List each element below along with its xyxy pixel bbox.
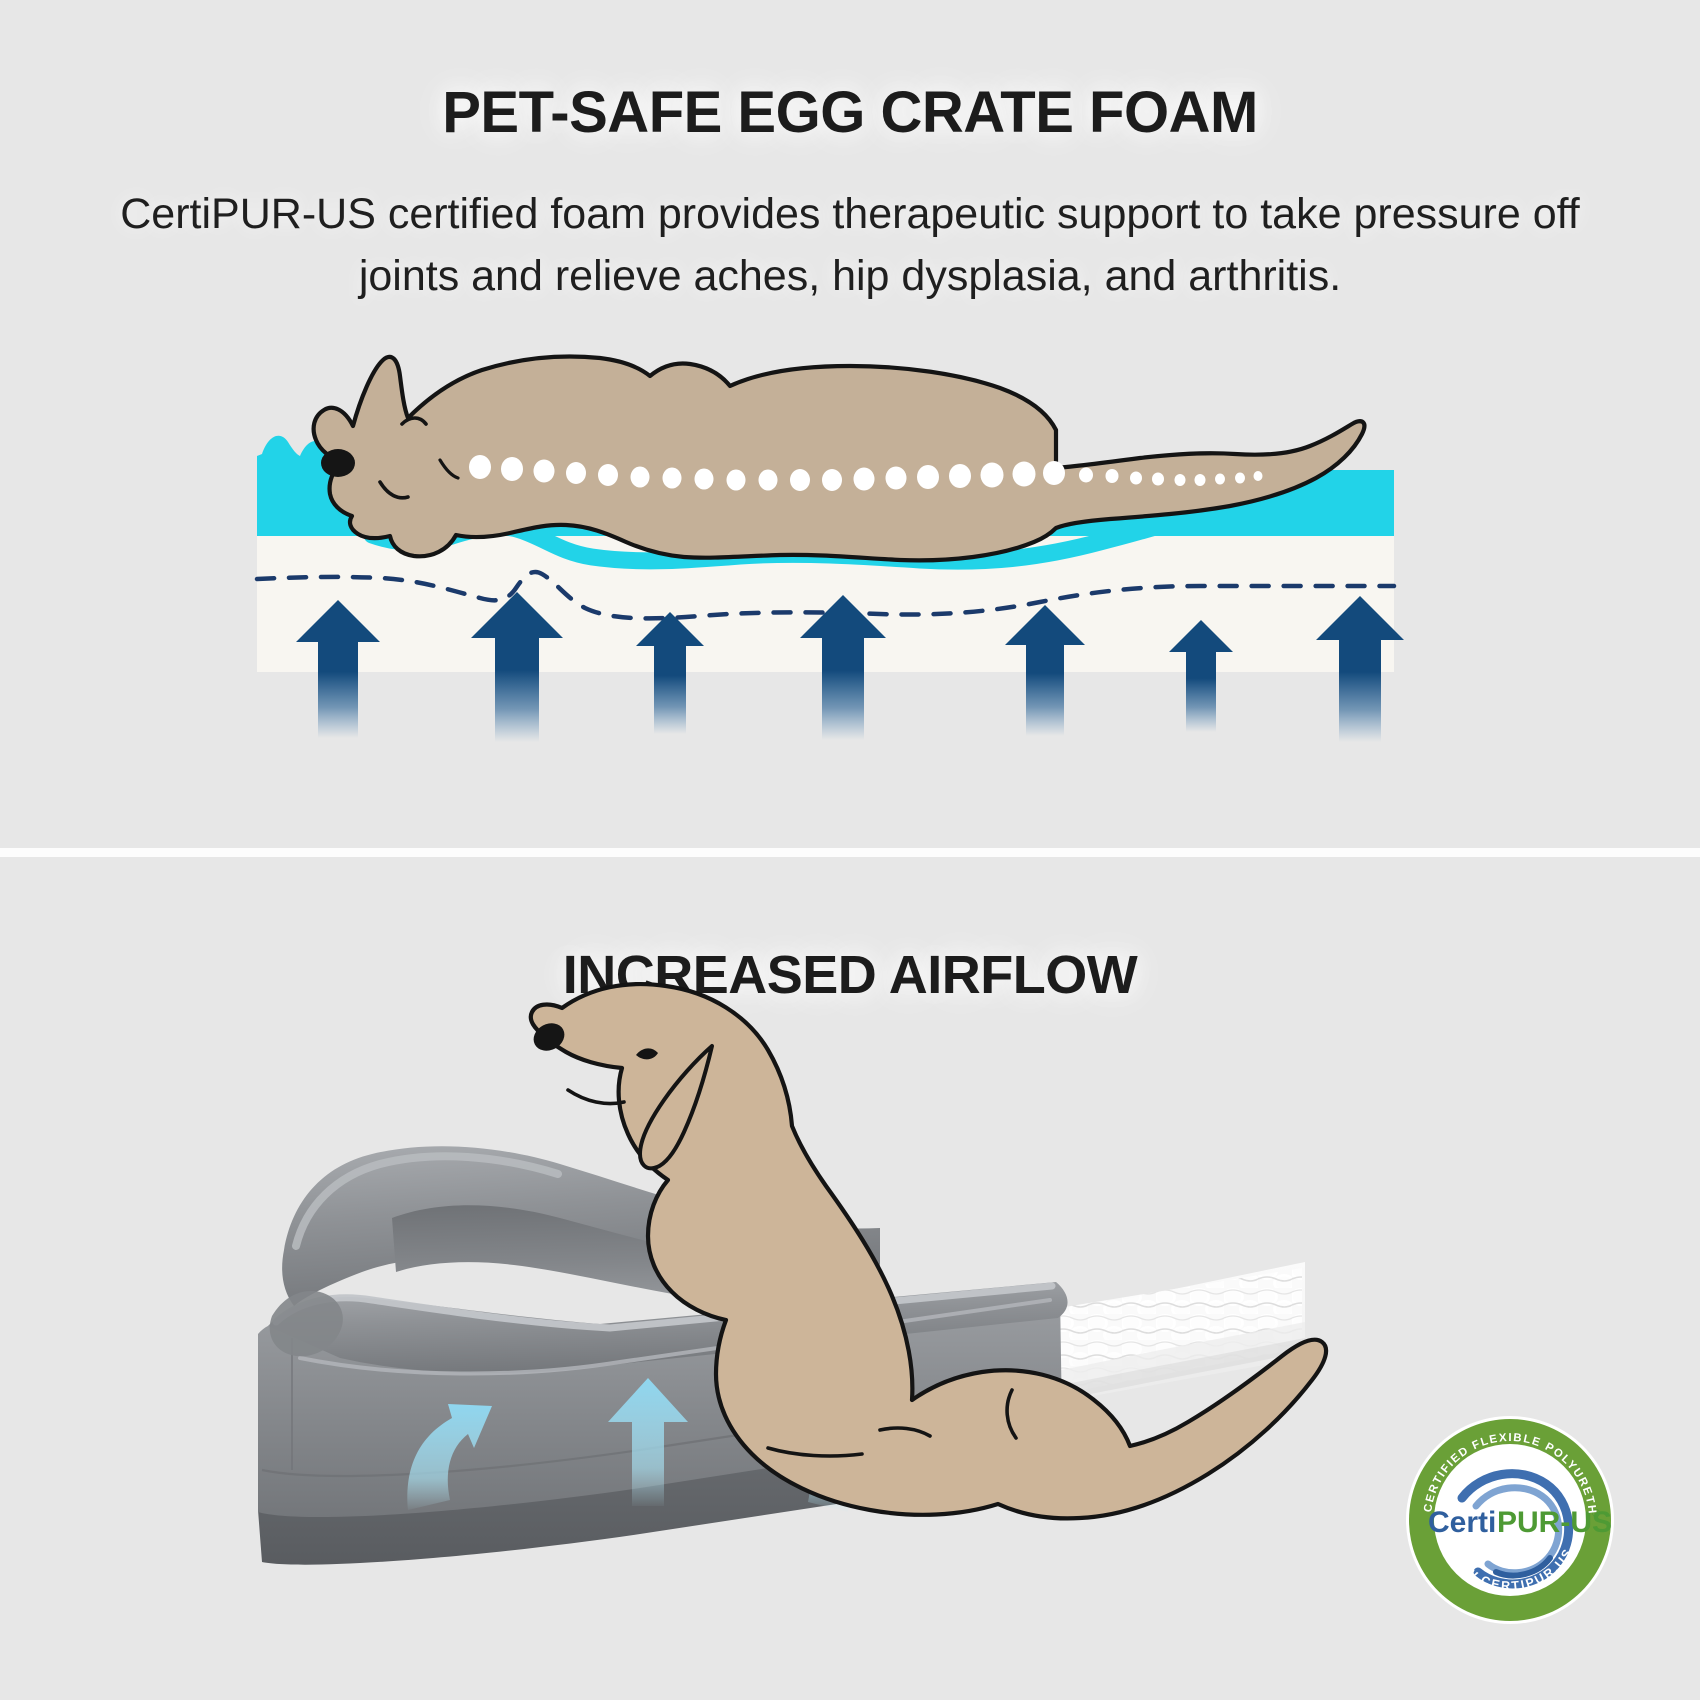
badge-wordmark: Certi PUR-US ® <box>1428 1506 1612 1539</box>
badge-wordmark-certi: Certi <box>1428 1506 1496 1539</box>
certipur-us-badge: Certi PUR-US ® CONTAINS CERTIFIED FLEXIB… <box>1404 1414 1616 1626</box>
dog-nose <box>321 449 355 477</box>
illustration-dog-on-foam-cross-section <box>0 330 1700 780</box>
page-title-pet-safe-egg-crate-foam: PET-SAFE EGG CRATE FOAM <box>0 78 1700 148</box>
section-divider <box>0 848 1700 857</box>
dog-muzzle-line <box>568 1090 624 1104</box>
infographic-page: PET-SAFE EGG CRATE FOAM CertiPUR-US cert… <box>0 0 1700 1700</box>
subtitle-pet-safe-egg-crate-foam: CertiPUR-US certified foam provides ther… <box>95 183 1605 307</box>
